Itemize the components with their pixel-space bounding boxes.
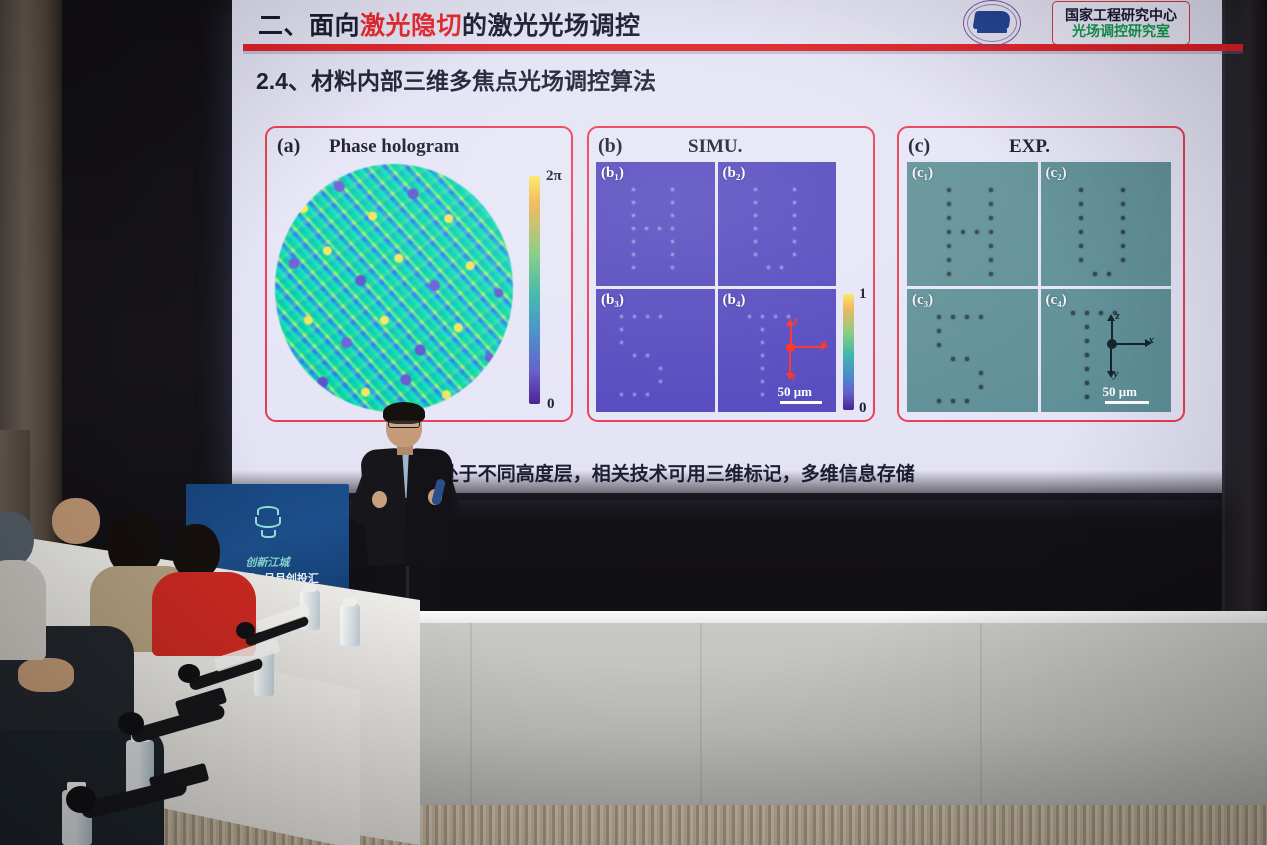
panel-b-scalebar-label: 50 μm [778,384,812,400]
focal-spot [761,341,764,344]
panel-c-axis-y-label: y [1114,368,1119,380]
subpanel-b1: (b₁) [596,162,715,286]
slide-section-title: 二、面向激光隐切的激光光场调控 [258,6,958,42]
focal-spot [645,227,648,230]
subpanel-c1: (c₁) [907,162,1038,286]
focal-spot [947,230,951,234]
focal-spot [1079,216,1083,220]
subpanel-c3: (c₃) [907,289,1038,413]
focal-spot [1085,339,1089,343]
focal-spot [951,399,955,403]
focal-spot [1079,244,1083,248]
focal-spot [965,357,969,361]
focal-spot [671,201,674,204]
focal-spot [761,367,764,370]
focal-spot [646,315,649,318]
focal-spot [754,227,757,230]
focal-spot [1085,311,1089,315]
focal-spot [951,357,955,361]
focal-spot [1079,202,1083,206]
panel-a-tag: (a) [277,135,300,158]
panel-b-axis-x-label: x [823,337,829,349]
focal-spot [659,380,662,383]
focal-spot [1121,244,1125,248]
figure-panels: (a) Phase hologram 2π 0 (b) SIMU. (b₁) (… [265,126,1195,422]
phase-hologram-image [275,162,513,414]
panel-a-phase-hologram: (a) Phase hologram 2π 0 [265,126,573,422]
focal-spot [646,393,649,396]
focal-spot [761,380,764,383]
bottle-cap [303,584,316,592]
panel-a-heading: Phase hologram [329,136,459,158]
focal-spot [793,227,796,230]
section-title-suffix: 的激光光场调控 [462,12,641,40]
focal-spot [632,214,635,217]
wall-seam [1222,0,1225,620]
focal-spot [793,240,796,243]
focal-spot [989,244,993,248]
focal-spot [961,230,965,234]
title-divider-shadow [243,51,1243,54]
focal-spot [989,188,993,192]
panel-b-simulation: (b) SIMU. (b₁) (b₂) (b₃) (b₄) [587,126,875,422]
focal-spot [947,216,951,220]
focal-spot [1085,381,1089,385]
panel-c-tag: (c) [908,135,930,158]
focal-spot [632,240,635,243]
focal-spot [632,253,635,256]
panel-b-scalebar [780,401,822,404]
presenter-speaker [350,405,462,620]
focal-spot [1121,216,1125,220]
panel-c-heading: EXP. [1009,136,1050,158]
panel-b-axis-y-label: y [792,370,797,382]
focal-spot [979,315,983,319]
focal-spot [793,214,796,217]
audience-member [42,498,112,568]
panel-a-colorbar-min: 0 [547,396,555,413]
panel-b-colorbar [843,294,854,410]
panel-b-grid: (b₁) (b₂) (b₃) (b₄) [596,162,836,412]
section-title-highlight: 激光隐切 [360,12,462,40]
panel-c-experiment: (c) EXP. (c₁) (c₂) (c₃) (c₄) [897,126,1185,422]
presenter-glasses [388,420,420,428]
focal-spot [979,385,983,389]
panel-b-axis-z-label: z [794,315,798,327]
focal-spot [646,354,649,357]
bottle-cap [343,598,356,606]
focal-spot [1121,230,1125,234]
stage-table-skirt [412,623,1267,805]
focal-spot [761,328,764,331]
focal-spot [1079,258,1083,262]
panel-b-heading: SIMU. [688,136,742,158]
focal-spot [1085,353,1089,357]
focal-spot [754,188,757,191]
focal-spot [620,393,623,396]
focal-spot [989,230,993,234]
research-center-line2: 光场调控研究室 [1072,24,1170,39]
panel-b-tag: (b) [598,135,622,158]
water-bottle [340,604,360,646]
subpanel-c2: (c₂) [1041,162,1172,286]
panel-c-axis-x-label: x [1149,334,1155,346]
subpanel-c4: (c₄) z x y 50 μm [1041,289,1172,413]
focal-spot [989,216,993,220]
focal-spot [979,371,983,375]
focal-spot [754,253,757,256]
focal-spot [1121,258,1125,262]
wall-panel-right [1222,0,1267,620]
focal-spot [659,315,662,318]
focal-spot [989,202,993,206]
focal-spot [793,253,796,256]
focal-spot [633,354,636,357]
focal-spot [947,272,951,276]
microphone-head [118,712,144,735]
subpanel-b2: (b₂) [718,162,837,286]
title-divider [243,44,1243,51]
focal-spot [965,399,969,403]
focal-spot [951,315,955,319]
focal-spot [937,315,941,319]
focal-spot [1085,325,1089,329]
panel-a-colorbar-max: 2π [546,168,562,185]
focal-spot [1107,272,1111,276]
panel-c-scalebar [1105,401,1149,404]
focal-spot [1121,188,1125,192]
panel-c-grid: (c₁) (c₂) (c₃) (c₄) [907,162,1171,412]
focal-spot [780,266,783,269]
microphone-head [178,664,200,683]
focal-spot [632,188,635,191]
panel-c-axis-z-label: z [1116,310,1120,322]
focal-spot [761,354,764,357]
panel-b-axes-gizmo: z x y [776,315,834,381]
focal-spot [620,328,623,331]
focal-spot [632,201,635,204]
panel-b-colorbar-max: 1 [859,286,867,303]
focal-spot [947,244,951,248]
focal-spot [671,266,674,269]
microphone-head [236,622,255,639]
focal-spot [1085,367,1089,371]
focal-spot [947,258,951,262]
microphone-head [66,786,96,813]
focal-spot [947,202,951,206]
research-center-line1: 国家工程研究中心 [1065,8,1177,23]
university-seal-icon [963,0,1021,46]
panel-b-colorbar-min: 0 [859,400,867,417]
focal-spot [793,201,796,204]
focal-spot [1079,230,1083,234]
focal-spot [658,227,661,230]
focal-spot [1093,272,1097,276]
focal-spot [754,201,757,204]
focal-spot [659,367,662,370]
focal-spot [1085,395,1089,399]
focal-spot [965,315,969,319]
focal-spot [989,258,993,262]
focal-spot [671,227,674,230]
audience-member [0,512,50,652]
subpanel-b4: (b₄) z x y [718,289,837,413]
focal-spot [633,315,636,318]
focal-spot [989,272,993,276]
focal-spot [1071,311,1075,315]
focal-spot [620,341,623,344]
panel-c-scalebar-label: 50 μm [1103,384,1137,400]
conference-photo: 二、面向激光隐切的激光光场调控 2.4、材料内部三维多焦点光场调控算法 国家工程… [0,0,1267,845]
focal-spot [671,253,674,256]
focal-spot [793,188,796,191]
panel-c-axes-gizmo: z x y [1097,311,1159,381]
focal-spot [761,393,764,396]
focal-spot [761,315,764,318]
focal-spot [767,266,770,269]
focal-spot [937,343,941,347]
subpanel-b3: (b₃) [596,289,715,413]
focal-spot [937,329,941,333]
focal-spot [671,240,674,243]
focal-spot [975,230,979,234]
focal-spot [620,315,623,318]
focal-spot [671,188,674,191]
focal-spot [947,188,951,192]
section-title-prefix: 二、面向 [258,12,360,40]
focal-spot [671,214,674,217]
focal-spot [937,399,941,403]
focal-spot [754,240,757,243]
panel-a-colorbar [529,176,540,404]
slide-subtitle: 2.4、材料内部三维多焦点光场调控算法 [256,62,656,96]
focal-spot [754,214,757,217]
focal-spot [1079,188,1083,192]
focal-spot [1121,202,1125,206]
focal-spot [632,227,635,230]
focal-spot [748,315,751,318]
research-center-logo: 国家工程研究中心 光场调控研究室 [1052,1,1190,45]
focal-spot [633,393,636,396]
focal-spot [632,266,635,269]
